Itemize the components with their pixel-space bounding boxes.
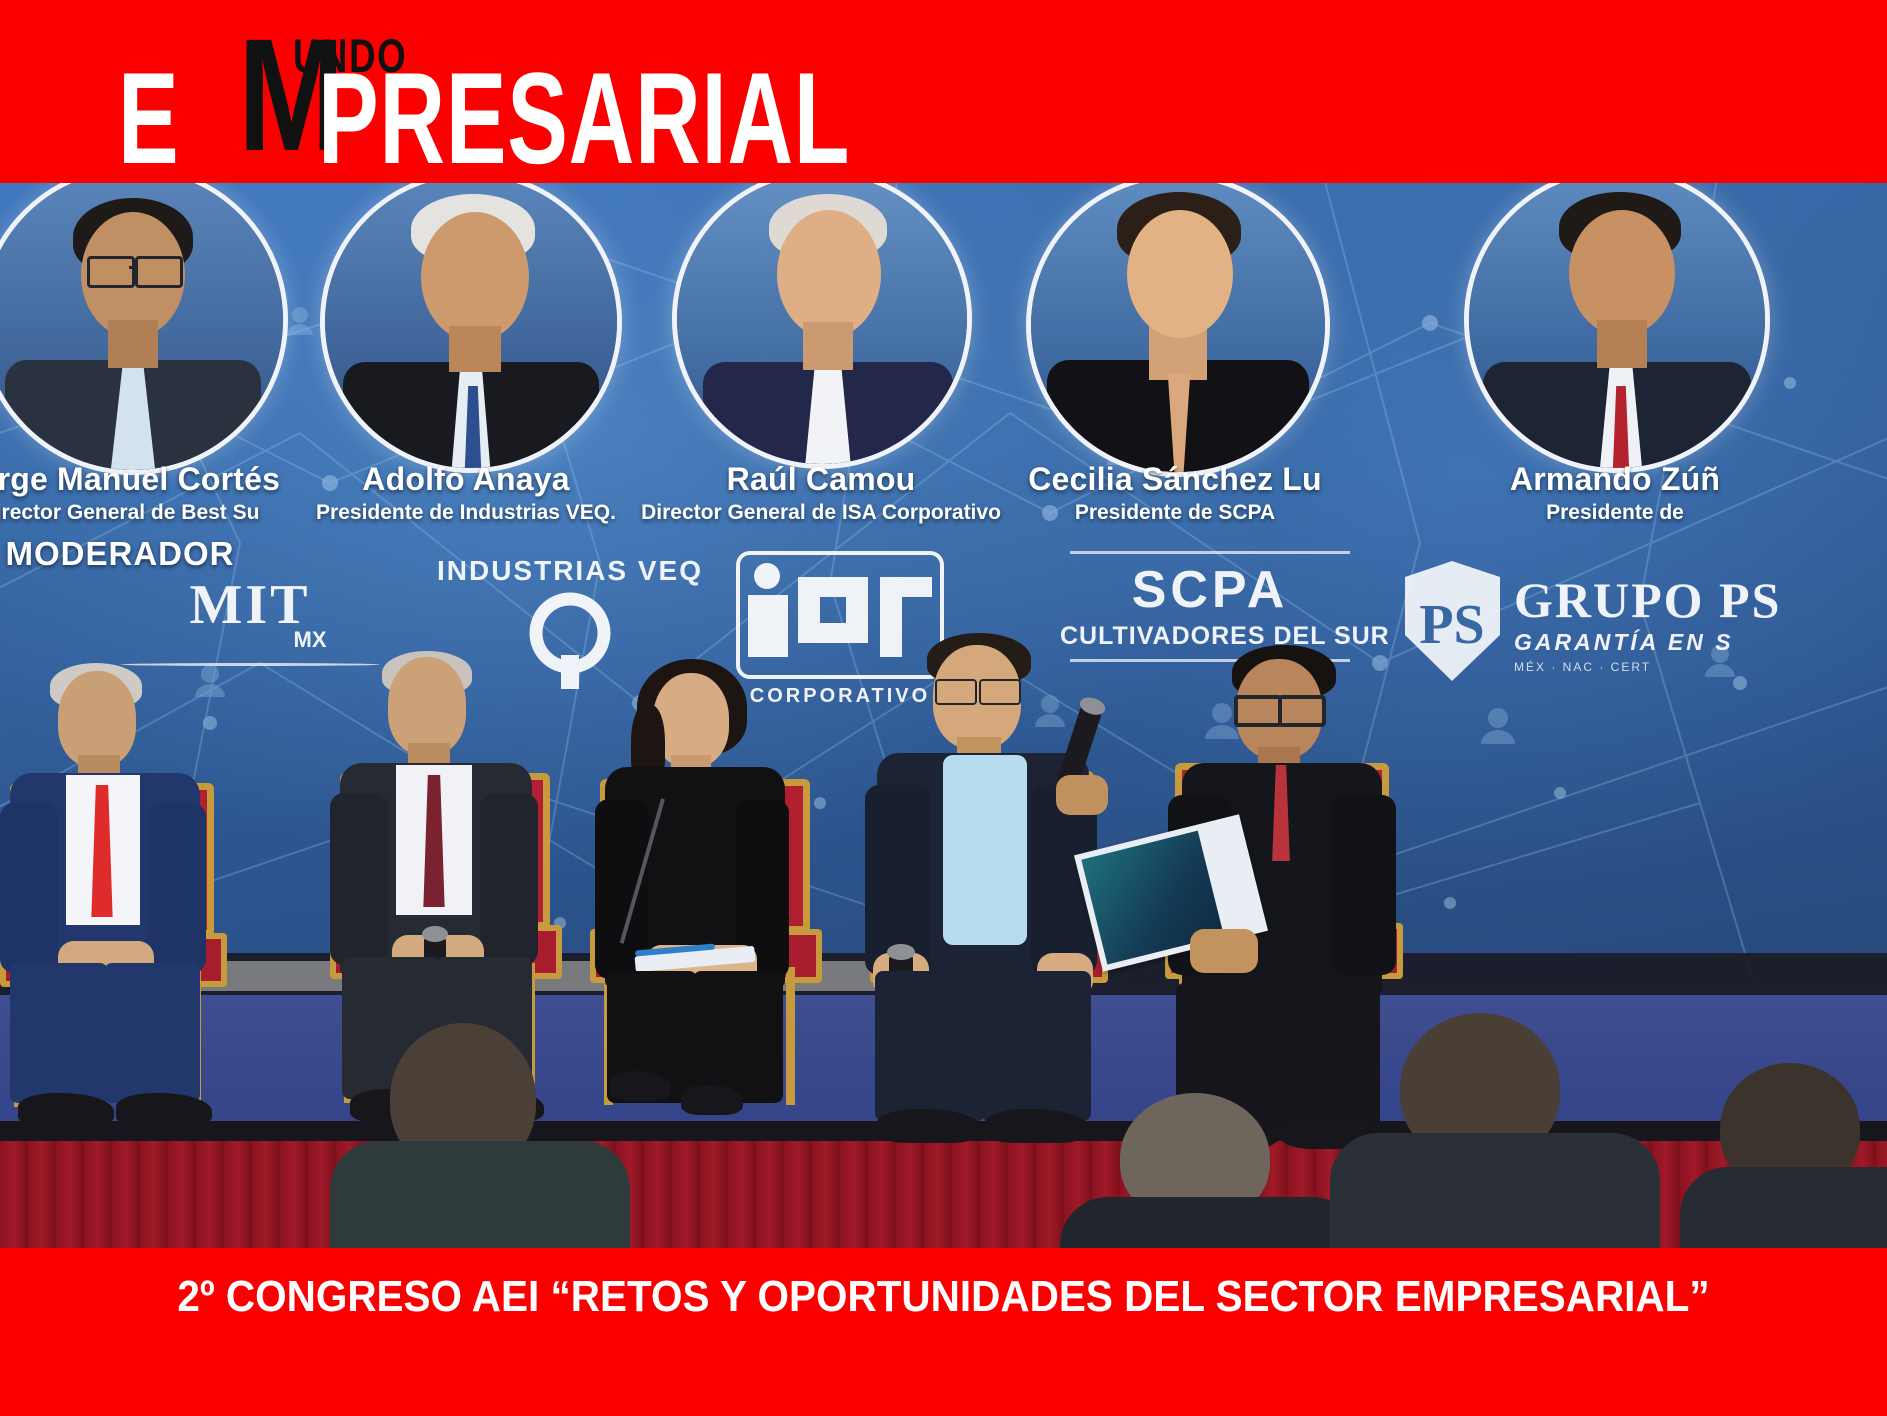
speaker-portrait-3 [672,183,972,469]
event-photo-card: E M UNDO PRESARIAL [0,0,1887,1416]
sponsor-logo-grupo-ps: PS GRUPO PS GARANTÍA EN S MÉX · NAC · CE… [1405,561,1875,681]
panelist-seated-1 [0,663,260,1123]
audience-member [330,1023,630,1248]
logo-letter-e: E [118,63,179,173]
mundo-empresarial-logo: E M UNDO PRESARIAL [118,8,758,168]
hand [1056,775,1108,815]
speaker-caption-4: Cecilia Sánchez Lu Presidente de SCPA [965,461,1385,525]
caption-footer: 2º CONGRESO AEI “RETOS Y OPORTUNIDADES D… [0,1248,1887,1416]
eyeglasses-icon [87,256,135,288]
panelist-seated-3 [595,659,845,1119]
speaker-portrait-2 [320,183,622,473]
brand-header: E M UNDO PRESARIAL [0,0,1887,183]
audience-member [1680,1063,1887,1248]
eyeglasses-icon [1234,695,1282,727]
speaker-portrait-5 [1464,183,1770,473]
conference-photograph: Jorge Manuel Cortés Director General de … [0,183,1887,1248]
audience-member [1330,1013,1660,1248]
event-title-caption: 2º CONGRESO AEI “RETOS Y OPORTUNIDADES D… [75,1272,1811,1322]
logo-word-presarial: PRESARIAL [318,63,850,173]
audience-member [1060,1093,1360,1248]
speaker-portrait-4 [1026,183,1330,477]
eyeglasses-icon [935,679,977,705]
speaker-portrait-1 [0,183,288,475]
speaker-caption-5: Armando Zúñ Presidente de [1405,461,1825,525]
